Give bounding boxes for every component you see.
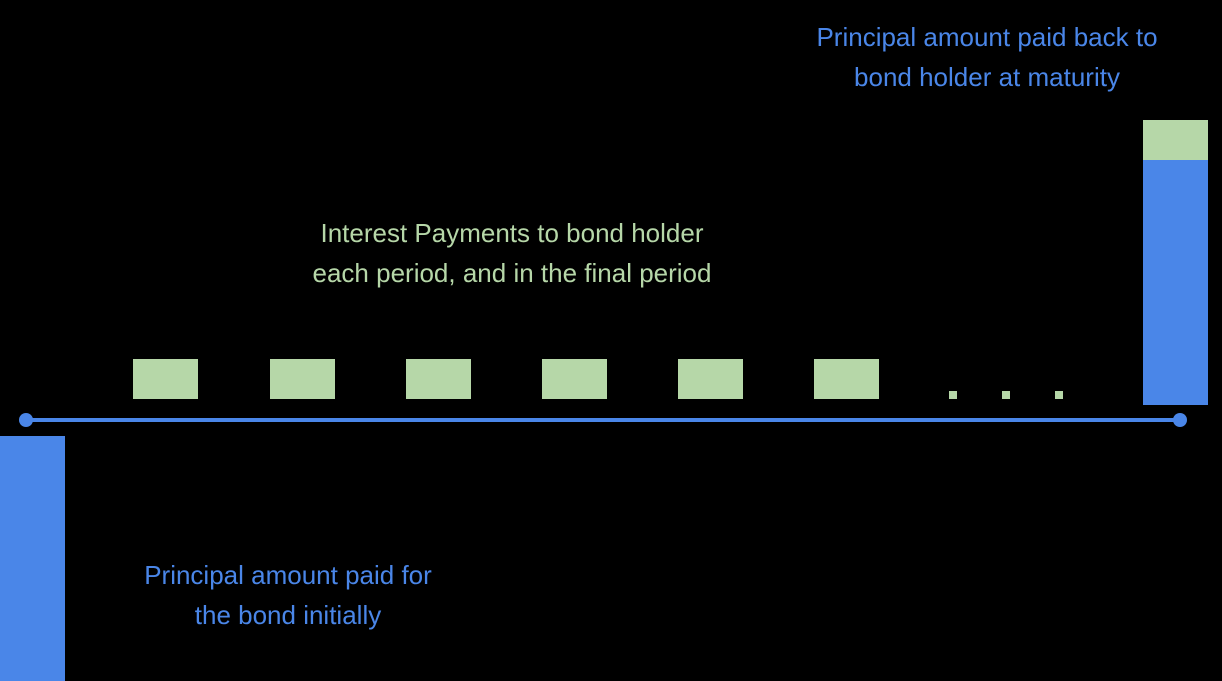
interest-payments-label: Interest Payments to bond holder each pe…: [256, 213, 768, 293]
interest-payment-bar: [814, 359, 879, 399]
continuation-dot-icon: [1055, 391, 1063, 399]
principal-paid-label: Principal amount paid for the bond initi…: [62, 555, 514, 635]
timeline-end-dot-icon: [1173, 413, 1187, 427]
final-interest-payment-bar: [1143, 120, 1208, 160]
timeline-start-dot-icon: [19, 413, 33, 427]
bond-cashflow-diagram: Principal amount paid back to bond holde…: [0, 0, 1222, 681]
continuation-dot-icon: [1002, 391, 1010, 399]
interest-payment-bar: [270, 359, 335, 399]
interest-payment-bar: [678, 359, 743, 399]
interest-payment-bar: [406, 359, 471, 399]
interest-payment-bar: [542, 359, 607, 399]
continuation-dot-icon: [949, 391, 957, 399]
timeline-axis: [26, 418, 1181, 422]
interest-payment-bar: [133, 359, 198, 399]
principal-paid-bar: [0, 436, 65, 681]
principal-returned-label: Principal amount paid back to bond holde…: [752, 17, 1222, 97]
principal-returned-bar: [1143, 120, 1208, 405]
